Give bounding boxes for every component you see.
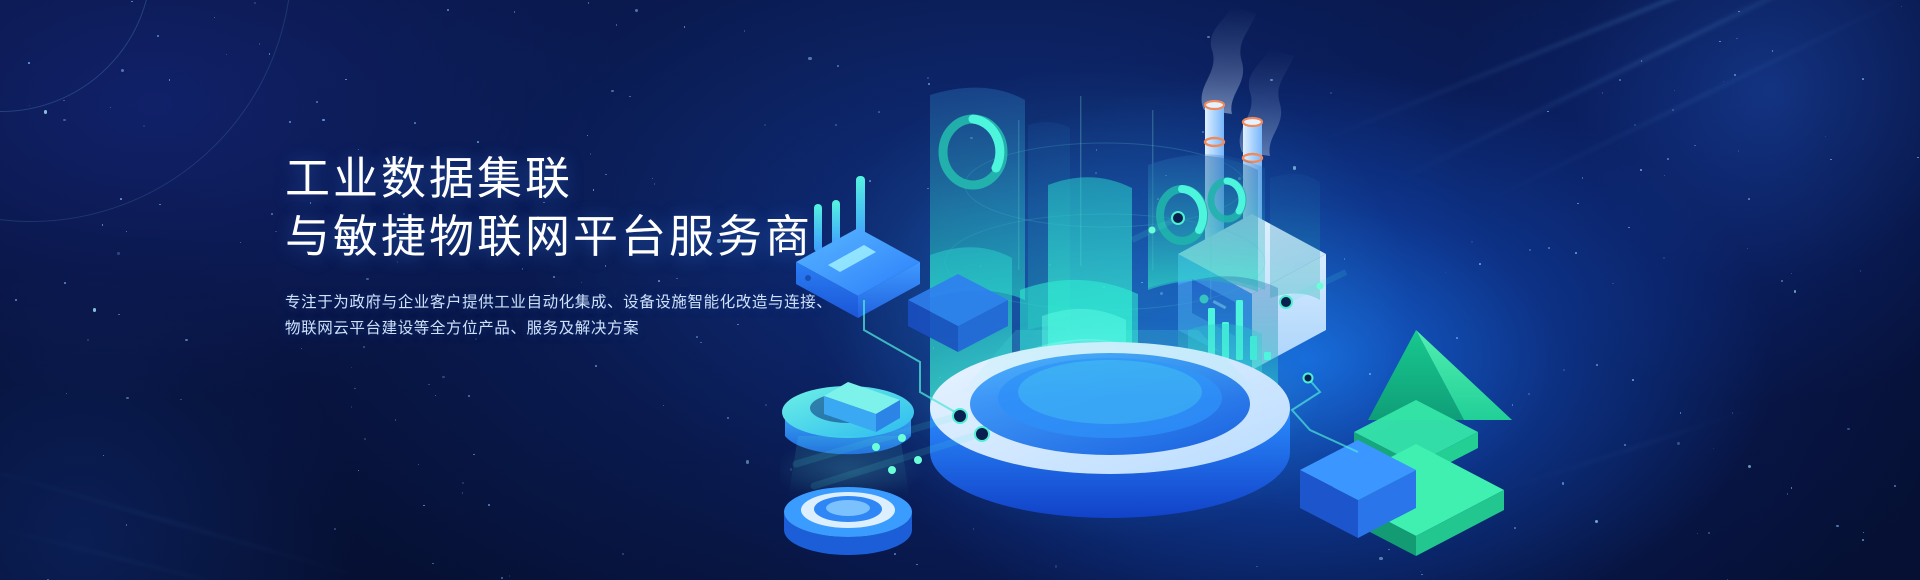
page-subtitle: 专注于为政府与企业客户提供工业自动化集成、设备设施智能化改造与连接、 物联网云平…: [285, 290, 845, 342]
illustration: [780, 0, 1920, 580]
page-title-line-2: 与敏捷物联网平台服务商: [285, 208, 845, 266]
subtitle-line-1: 专注于为政府与企业客户提供工业自动化集成、设备设施智能化改造与连接、: [285, 290, 845, 316]
subtitle-line-2: 物联网云平台建设等全方位产品、服务及解决方案: [285, 316, 845, 342]
page-title-line-1: 工业数据集联: [285, 150, 845, 208]
ring-pad-disc: [784, 487, 912, 555]
hero-copy: 工业数据集联 与敏捷物联网平台服务商 专注于为政府与企业客户提供工业自动化集成、…: [285, 150, 845, 342]
hero-banner: 工业数据集联 与敏捷物联网平台服务商 专注于为政府与企业客户提供工业自动化集成、…: [0, 0, 1920, 580]
